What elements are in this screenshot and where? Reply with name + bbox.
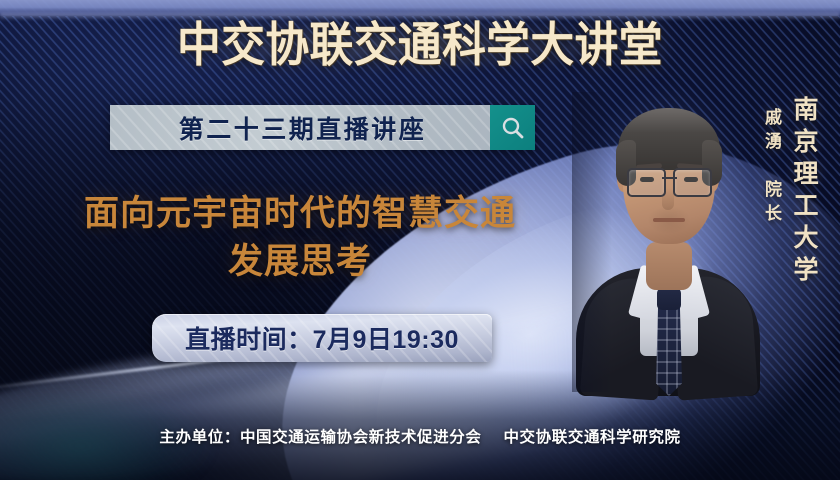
speaker-organization: 南京理工大学 (786, 96, 822, 288)
footer-organizer-1: 中国交通运输协会新技术促进分会 (240, 429, 482, 446)
speaker-portrait (578, 92, 756, 392)
footer-organizer-2: 中交协联交通科学研究院 (503, 429, 680, 446)
portrait-edge-shadow (572, 92, 612, 392)
portrait-necktie (656, 306, 682, 396)
portrait-neck (646, 242, 692, 290)
portrait-chin-shading (638, 204, 700, 244)
portrait-eyeglasses (627, 168, 712, 194)
lecture-headline: 面向元宇宙时代的智慧交通 发展思考 (40, 190, 560, 286)
footer-organizers: 主办单位：中国交通运输协会新技术促进分会中交协联交通科学研究院 (0, 425, 840, 447)
broadcast-time-plate: 直播时间：7月9日19:30 (152, 314, 492, 362)
subtitle-banner: 第二十三期直播讲座 (110, 105, 535, 150)
eyeglass-lens-right (673, 168, 712, 197)
eyeglass-lens-left (627, 168, 666, 197)
subtitle-banner-label: 第二十三期直播讲座 (110, 105, 495, 150)
main-title: 中交协联交通科学大讲堂 (29, 17, 810, 73)
broadcast-time-label: 直播时间：7月9日19:30 (152, 314, 492, 362)
portrait-mouth (653, 218, 685, 222)
search-icon (500, 115, 526, 141)
portrait-necktie-knot (657, 288, 681, 310)
poster-canvas: 中交协联交通科学大讲堂 第二十三期直播讲座 面向元宇宙时代的智慧交通 发展思考 … (0, 0, 840, 480)
speaker-name-title: 戚湧 院长 (759, 108, 784, 228)
eyeglass-bridge (662, 177, 677, 179)
headline-line-1: 面向元宇宙时代的智慧交通 (84, 194, 516, 233)
headline-line-2: 发展思考 (40, 238, 560, 286)
search-icon-block[interactable] (490, 105, 535, 150)
footer-organizer-label: 主办单位： (159, 429, 240, 446)
